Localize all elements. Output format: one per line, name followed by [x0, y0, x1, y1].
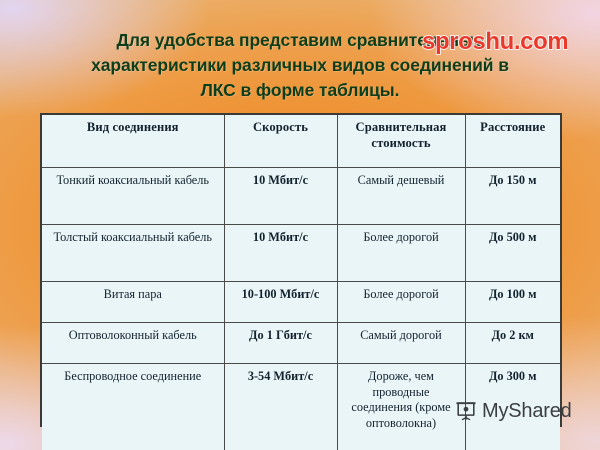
table-row: Толстый коаксиальный кабель 10 Мбит/с Бо… [42, 225, 560, 282]
cell-speed: До 1 Гбит/с [224, 323, 337, 364]
cell-speed: 10-100 Мбит/с [224, 282, 337, 323]
cell-relative-cost: Более дорогой [337, 225, 465, 282]
cell-distance: До 150 м [465, 168, 560, 225]
cell-distance: До 300 м [465, 364, 560, 450]
cell-connection-type: Толстый коаксиальный кабель [42, 225, 224, 282]
cell-speed: 3-54 Мбит/с [224, 364, 337, 450]
cell-connection-type: Тонкий коаксиальный кабель [42, 168, 224, 225]
page-title-line-3: ЛКС в форме таблицы. [30, 78, 570, 103]
cell-speed: 10 Мбит/с [224, 225, 337, 282]
table-row: Оптоволоконный кабель До 1 Гбит/с Самый … [42, 323, 560, 364]
column-header-speed: Скорость [224, 115, 337, 168]
column-header-distance: Расстояние [465, 115, 560, 168]
cell-connection-type: Оптоволоконный кабель [42, 323, 224, 364]
cell-relative-cost: Более дорогой [337, 282, 465, 323]
watermark-sproshu: sproshu.com [422, 29, 568, 55]
cell-distance: До 100 м [465, 282, 560, 323]
slide-canvas: Для удобства представим сравнительные ха… [0, 0, 600, 450]
cell-relative-cost: Самый дешевый [337, 168, 465, 225]
table-row: Беспроводное соединение 3-54 Мбит/с Доро… [42, 364, 560, 450]
page-title-line-2: характеристики различных видов соединени… [30, 53, 570, 78]
column-header-relative-cost: Сравнительная стоимость [337, 115, 465, 168]
cell-speed: 10 Мбит/с [224, 168, 337, 225]
cell-relative-cost: Дороже, чем проводные соединения (кроме … [337, 364, 465, 450]
table-row: Тонкий коаксиальный кабель 10 Мбит/с Сам… [42, 168, 560, 225]
table-row: Витая пара 10-100 Мбит/с Более дорогой Д… [42, 282, 560, 323]
comparison-table-container: Вид соединения Скорость Сравнительная ст… [40, 113, 562, 427]
cell-connection-type: Витая пара [42, 282, 224, 323]
table-header-row: Вид соединения Скорость Сравнительная ст… [42, 115, 560, 168]
comparison-table: Вид соединения Скорость Сравнительная ст… [42, 115, 560, 450]
cell-relative-cost: Самый дорогой [337, 323, 465, 364]
cell-distance: До 500 м [465, 225, 560, 282]
column-header-connection-type: Вид соединения [42, 115, 224, 168]
cell-distance: До 2 км [465, 323, 560, 364]
cell-connection-type: Беспроводное соединение [42, 364, 224, 450]
